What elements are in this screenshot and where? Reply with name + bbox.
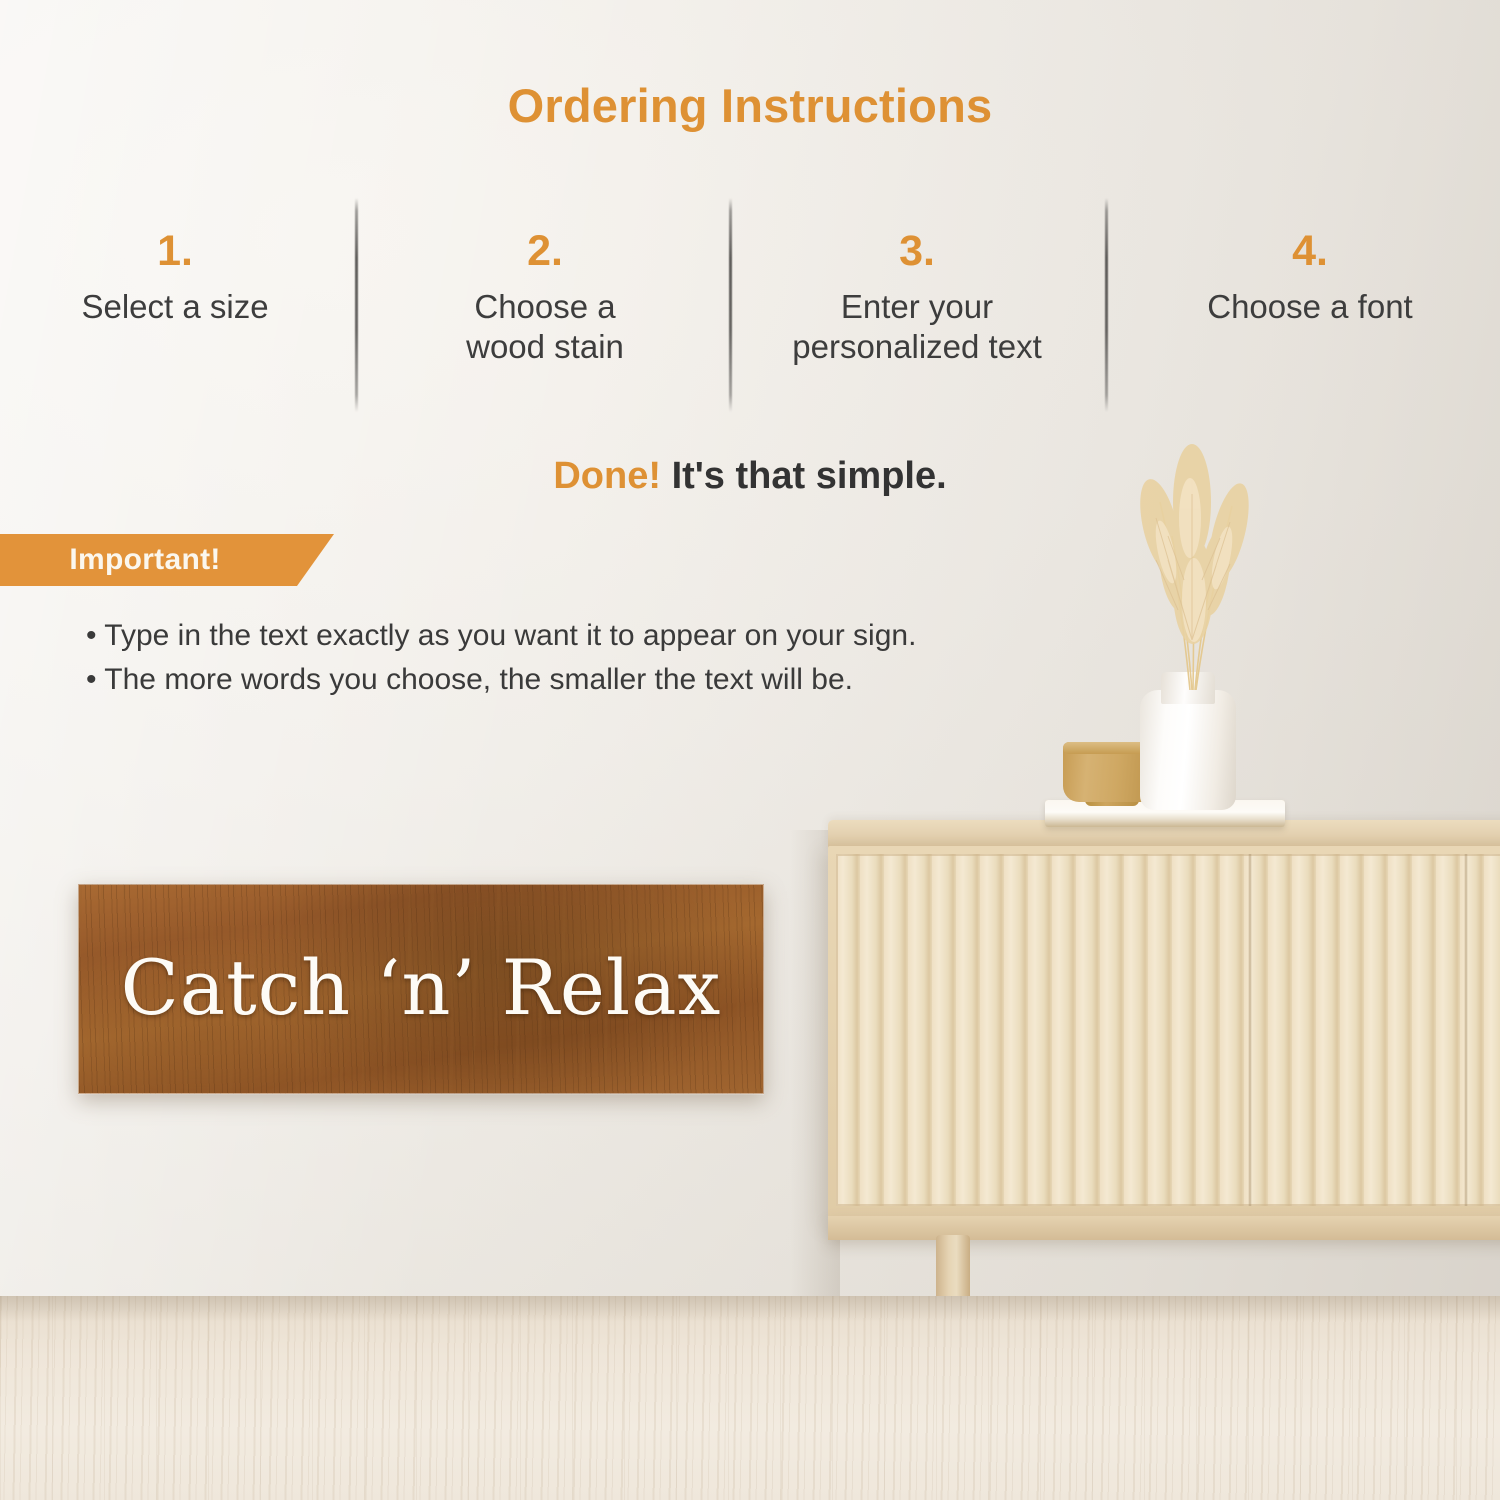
- sign-text: Catch ‘n’ Relax: [79, 885, 763, 1093]
- sideboard-base-rail: [828, 1216, 1500, 1240]
- sideboard-furniture: [828, 820, 1500, 1300]
- page-title: Ordering Instructions: [0, 78, 1500, 133]
- step-3: 3. Enter yourpersonalized text: [752, 230, 1082, 368]
- step-label: Select a size: [10, 287, 340, 327]
- step-divider: [355, 198, 358, 412]
- step-number: 2.: [380, 230, 710, 273]
- step-1: 1. Select a size: [10, 230, 340, 327]
- sideboard-body: [828, 846, 1500, 1222]
- step-label: Choose awood stain: [380, 287, 710, 368]
- important-bullet-list: • Type in the text exactly as you want i…: [86, 614, 1186, 703]
- step-number: 3.: [752, 230, 1082, 273]
- done-highlight: Done!: [553, 455, 661, 497]
- wood-floor: [0, 1296, 1500, 1500]
- step-number: 4.: [1145, 230, 1475, 273]
- step-divider: [729, 198, 732, 412]
- done-line: Done! It's that simple.: [0, 455, 1500, 498]
- sideboard-door-seam: [1464, 854, 1468, 1206]
- list-item: • The more words you choose, the smaller…: [86, 658, 1186, 702]
- product-listing-image: Ordering Instructions 1. Select a size 2…: [0, 0, 1500, 1500]
- important-ribbon-label: Important!: [0, 534, 290, 586]
- step-number: 1.: [10, 230, 340, 273]
- step-2: 2. Choose awood stain: [380, 230, 710, 368]
- sideboard-fluted-doors: [836, 854, 1500, 1206]
- step-4: 4. Choose a font: [1145, 230, 1475, 327]
- sideboard-door-seam: [1248, 854, 1252, 1206]
- step-label: Enter yourpersonalized text: [752, 287, 1082, 368]
- done-rest: It's that simple.: [672, 455, 947, 497]
- ceramic-vase: [1140, 690, 1236, 810]
- step-label: Choose a font: [1145, 287, 1475, 327]
- list-item: • Type in the text exactly as you want i…: [86, 614, 1186, 658]
- floor-wall-shadow: [0, 1296, 1500, 1322]
- steps-row: 1. Select a size 2. Choose awood stain 3…: [0, 230, 1500, 420]
- wooden-sign: Catch ‘n’ Relax: [78, 884, 764, 1094]
- step-divider: [1105, 198, 1108, 412]
